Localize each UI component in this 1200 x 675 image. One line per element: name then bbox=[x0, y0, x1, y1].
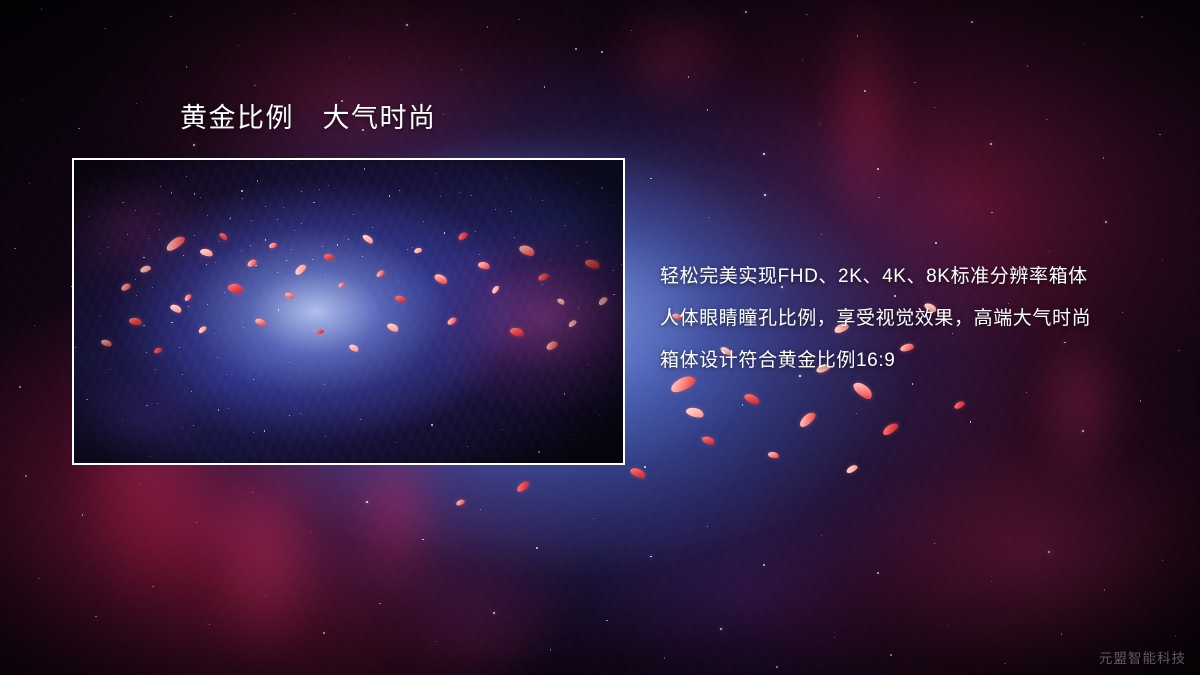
petal-shape bbox=[701, 435, 716, 447]
star-dot bbox=[252, 492, 253, 493]
star-dot bbox=[443, 114, 444, 115]
star-dot bbox=[764, 194, 766, 196]
star-dot bbox=[1103, 157, 1104, 158]
star-dot bbox=[1004, 663, 1005, 664]
star-dot bbox=[1026, 392, 1027, 393]
star-dot bbox=[991, 581, 992, 582]
star-dot bbox=[139, 484, 140, 485]
star-dot bbox=[763, 153, 765, 155]
star-dot bbox=[480, 509, 481, 510]
star-dot bbox=[763, 564, 765, 566]
star-dot bbox=[41, 8, 43, 10]
petal-shape bbox=[767, 451, 779, 460]
star-dot bbox=[742, 404, 743, 405]
star-dot bbox=[991, 212, 992, 213]
star-dot bbox=[152, 586, 153, 587]
star-dot bbox=[136, 103, 137, 104]
star-dot bbox=[877, 168, 879, 170]
star-dot bbox=[708, 217, 709, 218]
star-dot bbox=[1162, 259, 1163, 260]
star-dot bbox=[1084, 43, 1085, 44]
star-dot bbox=[971, 21, 973, 23]
petal-shape bbox=[953, 400, 965, 410]
star-dot bbox=[379, 603, 380, 604]
star-dot bbox=[664, 657, 665, 658]
star-dot bbox=[22, 99, 23, 100]
star-dot bbox=[536, 547, 537, 548]
star-dot bbox=[1162, 560, 1164, 562]
star-dot bbox=[707, 526, 708, 527]
star-dot bbox=[720, 628, 722, 630]
star-dot bbox=[914, 82, 915, 83]
petal-shape bbox=[743, 391, 761, 406]
petal-shape bbox=[515, 479, 531, 493]
star-dot bbox=[349, 57, 350, 58]
star-dot bbox=[1061, 633, 1063, 635]
star-dot bbox=[82, 514, 84, 516]
star-dot bbox=[601, 51, 603, 53]
star-dot bbox=[436, 641, 437, 642]
star-dot bbox=[912, 383, 913, 384]
star-dot bbox=[487, 26, 488, 27]
star-dot bbox=[934, 107, 935, 108]
star-dot bbox=[209, 624, 211, 626]
star-dot bbox=[1049, 251, 1050, 252]
star-dot bbox=[193, 144, 195, 146]
star-dot bbox=[25, 475, 26, 476]
star-dot bbox=[650, 178, 652, 180]
star-dot bbox=[688, 76, 689, 77]
star-dot bbox=[550, 649, 551, 650]
star-dot bbox=[877, 572, 879, 574]
star-dot bbox=[461, 69, 462, 70]
petal-shape bbox=[455, 498, 465, 506]
petal-shape bbox=[881, 422, 900, 437]
star-dot bbox=[1140, 400, 1141, 401]
star-dot bbox=[238, 45, 239, 46]
star-dot bbox=[644, 466, 646, 468]
star-dot bbox=[806, 14, 807, 15]
star-dot bbox=[1159, 134, 1161, 136]
star-dot bbox=[856, 413, 857, 414]
star-dot bbox=[990, 143, 992, 145]
star-dot bbox=[186, 66, 187, 67]
star-dot bbox=[970, 421, 972, 423]
body-line-3: 箱体设计符合黄金比例16:9 bbox=[660, 340, 1160, 382]
petal-shape bbox=[797, 410, 818, 429]
star-dot bbox=[935, 242, 937, 244]
star-dot bbox=[78, 128, 80, 130]
body-text-block: 轻松完美实现FHD、2K、4K、8K标准分辨率箱体 人体眼睛瞳孔比例，享受视觉效… bbox=[660, 256, 1160, 382]
body-line-2: 人体眼睛瞳孔比例，享受视觉效果，高端大气时尚 bbox=[660, 298, 1160, 340]
star-dot bbox=[820, 124, 821, 125]
star-dot bbox=[631, 30, 632, 31]
star-dot bbox=[878, 197, 879, 198]
star-dot bbox=[776, 666, 777, 667]
photo-panel bbox=[72, 158, 625, 465]
star-dot bbox=[294, 13, 295, 14]
star-dot bbox=[934, 543, 935, 544]
petal-shape bbox=[629, 466, 647, 481]
star-dot bbox=[29, 183, 30, 184]
star-dot bbox=[1082, 430, 1084, 432]
star-dot bbox=[170, 16, 172, 18]
star-dot bbox=[745, 11, 747, 13]
star-dot bbox=[821, 535, 822, 536]
watermark: 元盟智能科技 bbox=[1099, 647, 1186, 667]
page-title: 黄金比例 大气时尚 bbox=[180, 102, 437, 136]
star-dot bbox=[422, 539, 424, 541]
star-dot bbox=[95, 616, 97, 618]
star-dot bbox=[650, 556, 652, 558]
star-dot bbox=[104, 28, 105, 29]
presentation-slide: 黄金比例 大气时尚 轻松完美实现FHD、2K、4K、8K标准分辨率箱体 人体眼睛… bbox=[0, 0, 1200, 675]
star-dot bbox=[834, 637, 835, 638]
star-dot bbox=[544, 86, 545, 87]
petal-shape bbox=[685, 406, 705, 420]
star-dot bbox=[701, 437, 702, 438]
star-dot bbox=[821, 234, 822, 235]
star-dot bbox=[1175, 635, 1176, 636]
star-dot bbox=[890, 654, 892, 656]
star-dot bbox=[14, 248, 15, 249]
star-dot bbox=[254, 85, 255, 86]
star-dot bbox=[947, 625, 948, 626]
star-dot bbox=[1141, 16, 1143, 18]
star-dot bbox=[38, 578, 39, 579]
star-dot bbox=[493, 612, 495, 614]
star-dot bbox=[1046, 119, 1047, 120]
star-dot bbox=[857, 35, 859, 37]
star-dot bbox=[265, 595, 266, 596]
star-dot bbox=[864, 90, 866, 92]
star-dot bbox=[366, 501, 368, 503]
star-dot bbox=[196, 522, 198, 524]
star-dot bbox=[1104, 589, 1105, 590]
star-dot bbox=[323, 632, 325, 634]
star-dot bbox=[707, 109, 708, 110]
star-dot bbox=[34, 325, 35, 326]
star-dot bbox=[575, 48, 577, 50]
star-dot bbox=[1105, 221, 1107, 223]
petal-shape bbox=[851, 379, 875, 402]
star-dot bbox=[606, 620, 608, 622]
star-dot bbox=[1027, 65, 1028, 66]
star-dot bbox=[406, 24, 408, 26]
photo-vignette bbox=[74, 160, 623, 463]
body-line-1: 轻松完美实现FHD、2K、4K、8K标准分辨率箱体 bbox=[660, 256, 1160, 298]
star-dot bbox=[593, 518, 594, 519]
petal-shape bbox=[845, 463, 858, 474]
star-dot bbox=[310, 531, 311, 532]
star-dot bbox=[802, 60, 803, 61]
star-dot bbox=[1048, 551, 1050, 553]
star-dot bbox=[1178, 350, 1179, 351]
star-dot bbox=[19, 386, 21, 388]
star-dot bbox=[518, 19, 519, 20]
